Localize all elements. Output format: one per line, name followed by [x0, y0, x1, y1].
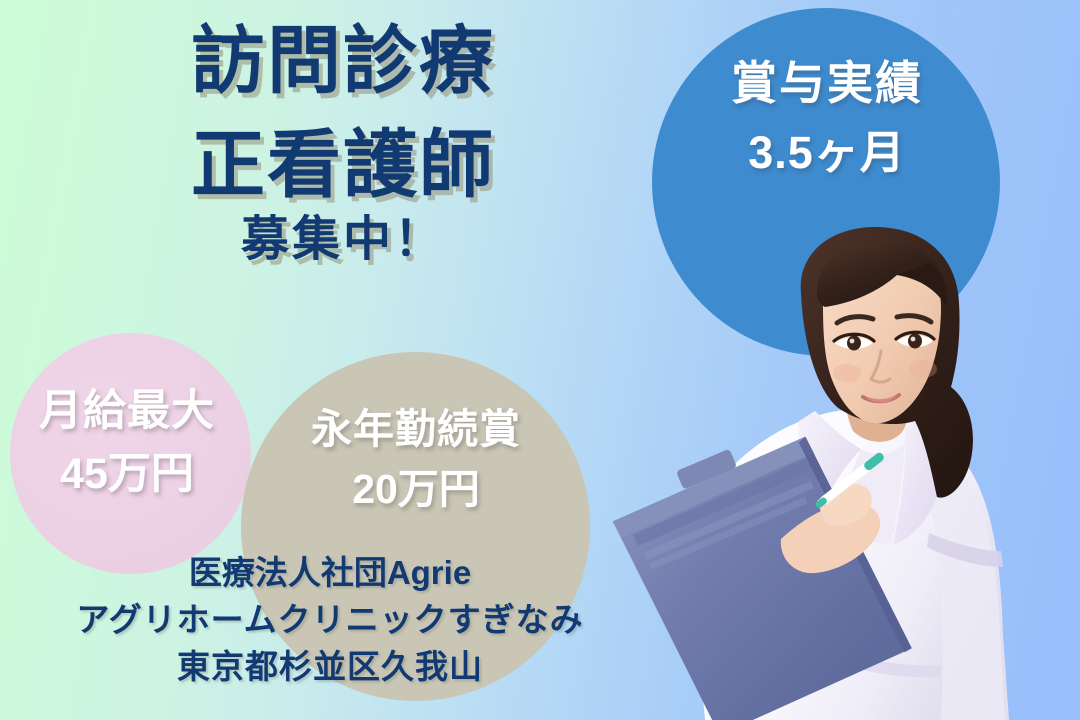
headline-line-1: 訪問診療 [128, 24, 558, 98]
company-name: 医療法人社団Agrie [30, 552, 630, 595]
badge-long-service: 永年勤続賞 20万円 [248, 405, 584, 514]
badge-salary-value: 45万円 [2, 449, 252, 500]
headline-line-3: 募集中！ [128, 216, 558, 264]
badge-salary: 月給最大 45万円 [2, 386, 252, 499]
clinic-address: 東京都杉並区久我山 [30, 646, 630, 689]
headline-line-2: 正看護師 [128, 128, 558, 202]
badge-bonus: 賞与実績 3.5ヶ月 [672, 56, 982, 179]
badge-salary-label: 月給最大 [2, 386, 252, 437]
badge-bonus-value: 3.5ヶ月 [672, 126, 982, 179]
clinic-name: アグリホームクリニックすぎなみ [30, 599, 630, 642]
headline: 訪問診療 正看護師 募集中！ [128, 24, 558, 264]
badge-bonus-label: 賞与実績 [672, 56, 982, 110]
badge-long-service-label: 永年勤続賞 [248, 405, 584, 453]
nurse-photo [585, 215, 1080, 720]
badge-long-service-value: 20万円 [248, 465, 584, 513]
company-info: 医療法人社団Agrie アグリホームクリニックすぎなみ 東京都杉並区久我山 [30, 552, 630, 689]
job-ad-banner: 訪問診療 正看護師 募集中！ 賞与実績 3.5ヶ月 月給最大 45万円 永年勤続… [0, 0, 1080, 720]
